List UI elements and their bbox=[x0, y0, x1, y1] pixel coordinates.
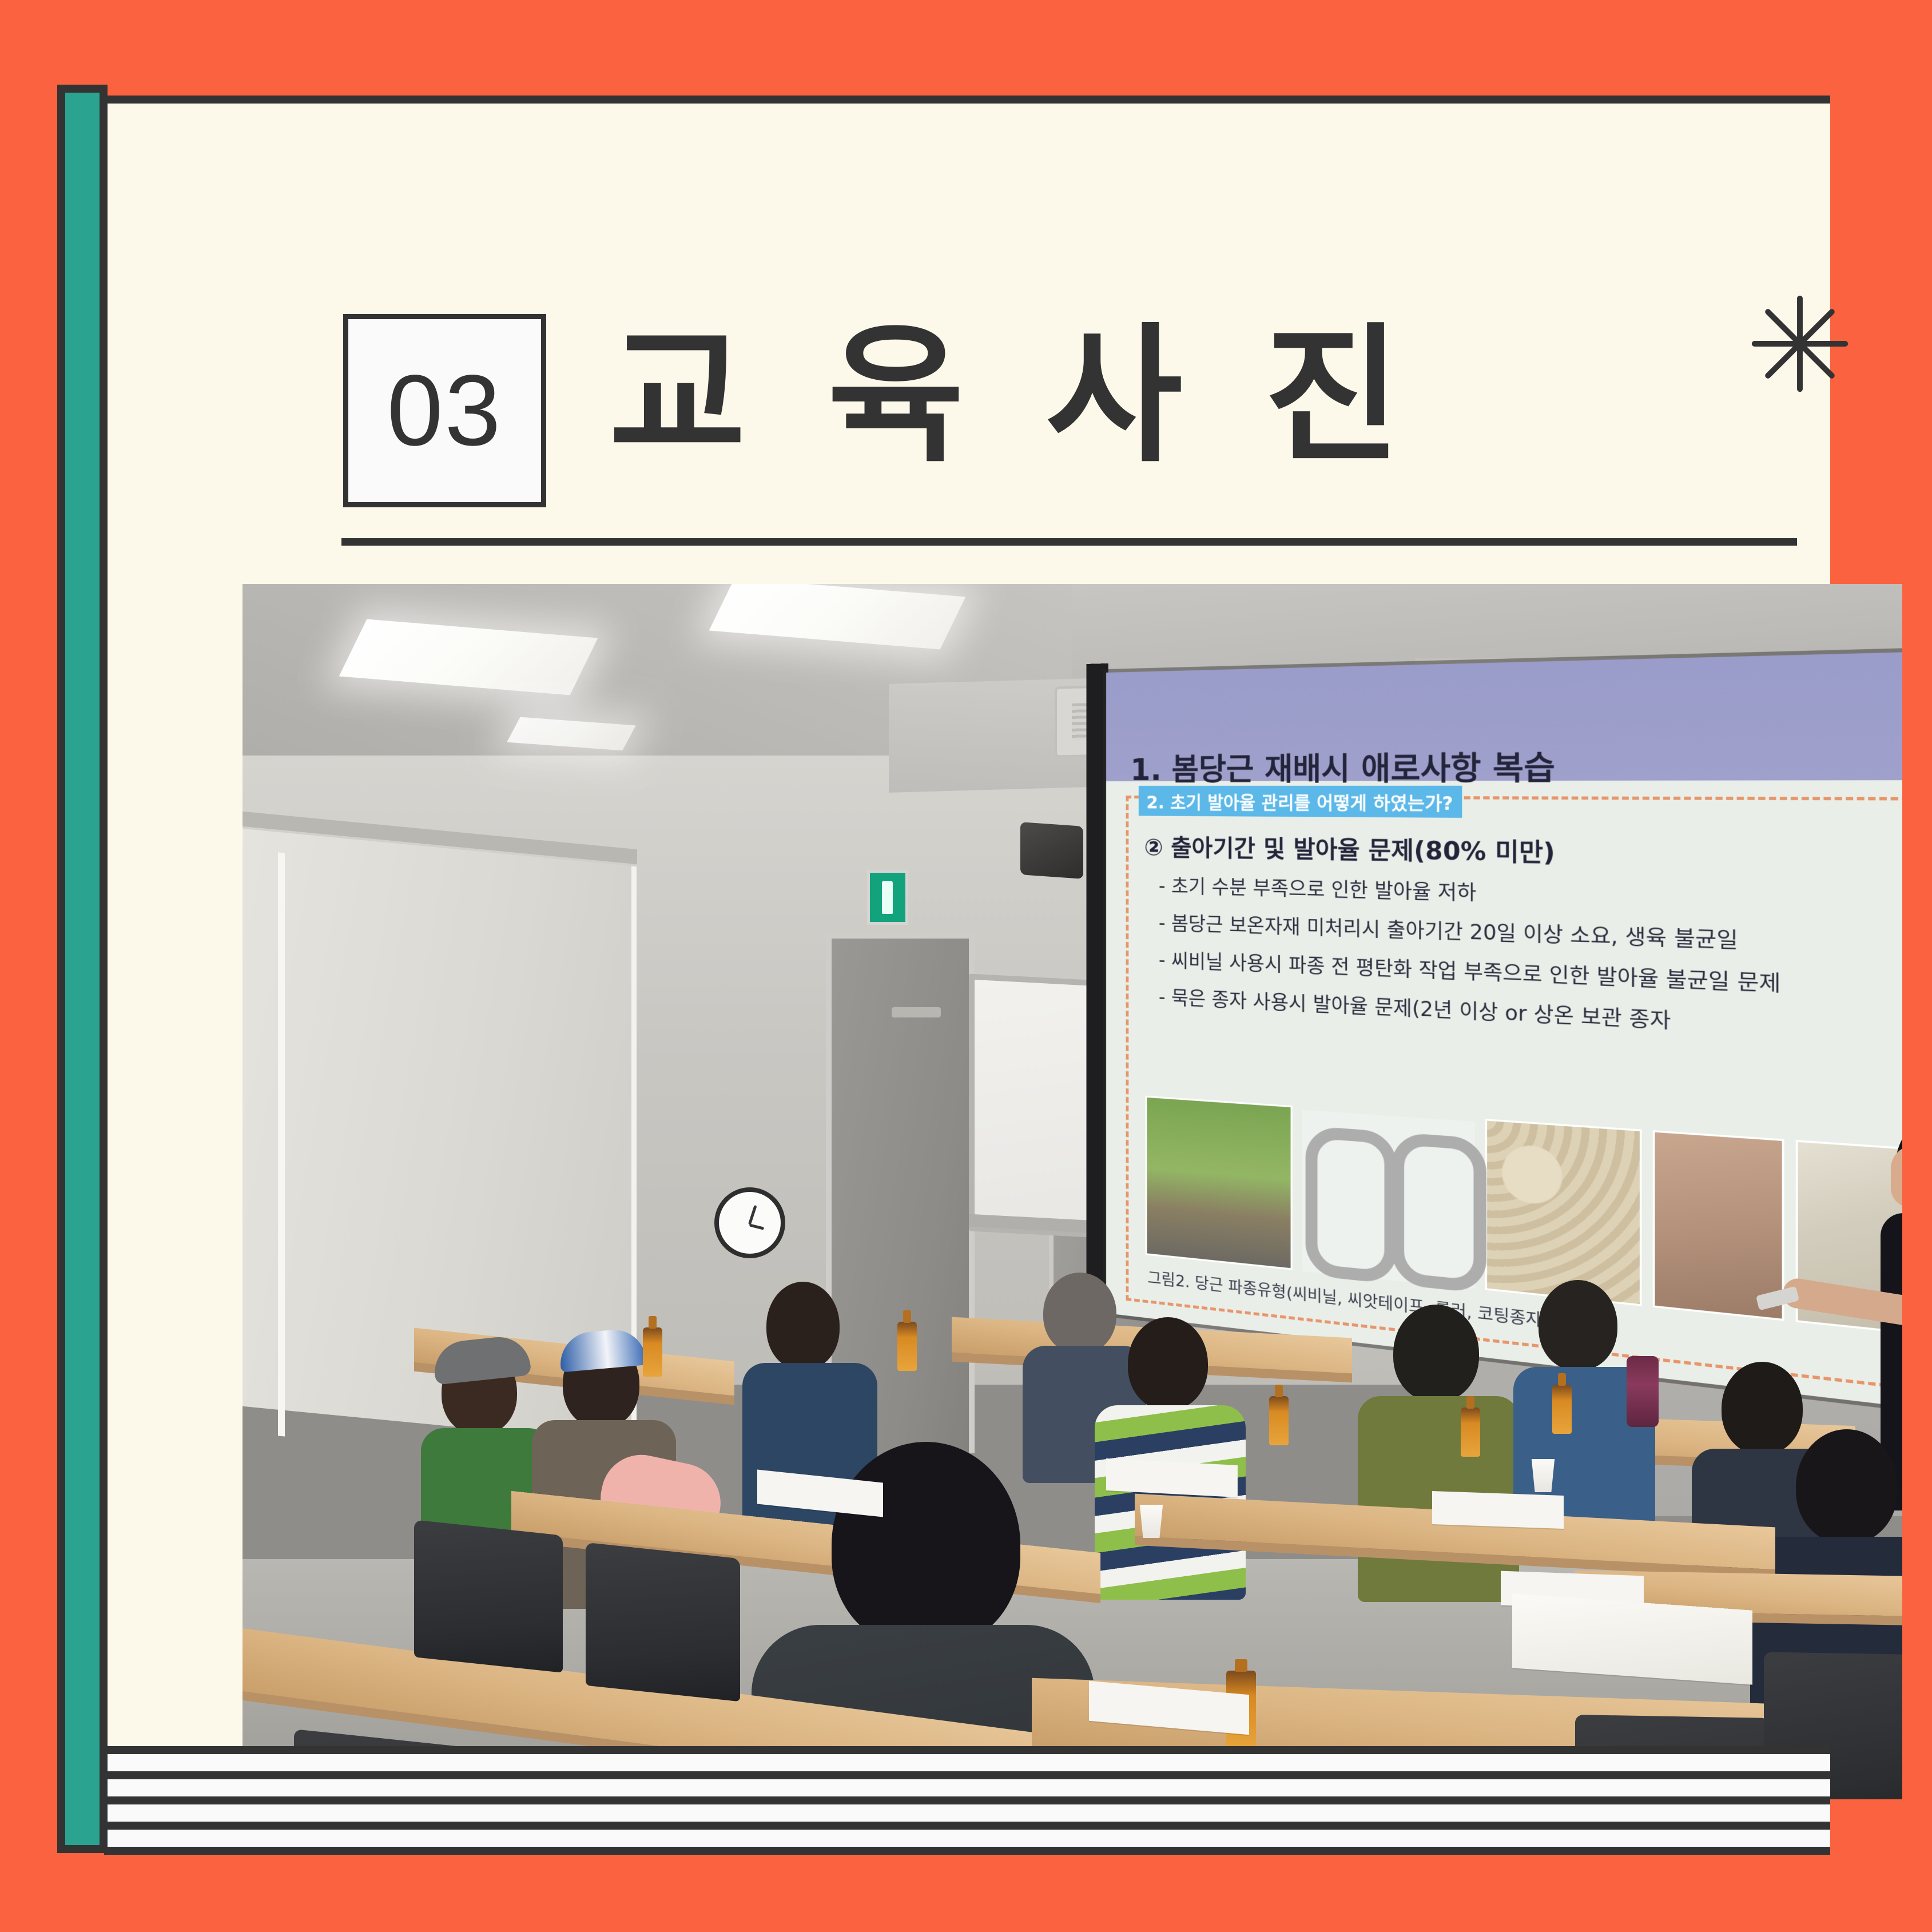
sparkle-asterisk-icon bbox=[1748, 292, 1851, 395]
chair bbox=[414, 1520, 563, 1672]
handout bbox=[1106, 1458, 1238, 1497]
attendee-head bbox=[1796, 1429, 1898, 1544]
blind-edge bbox=[278, 852, 285, 1436]
slide-heading: ② 출아기간 및 발아율 문제(80% 미만) bbox=[1144, 829, 1902, 876]
tumbler bbox=[1627, 1356, 1659, 1427]
page-title: 교 육 사 진 bbox=[609, 304, 1416, 490]
drink-bottle bbox=[1552, 1385, 1572, 1434]
chair bbox=[586, 1543, 740, 1702]
door-handle bbox=[892, 1007, 941, 1017]
footer-stripes bbox=[104, 1746, 1830, 1855]
page-header: 03 교 육 사 진 bbox=[343, 304, 1802, 532]
drink-bottle bbox=[1461, 1408, 1480, 1457]
attendee-head bbox=[1128, 1317, 1208, 1410]
slide-title: 1. 봄당근 재배시 애로사항 복습 bbox=[1130, 742, 1555, 789]
screen-casing bbox=[1087, 663, 1108, 1327]
education-photo: 1. 봄당근 재배시 애로사항 복습 2. 초기 발아율 관리를 어떻게 하였는… bbox=[243, 584, 1902, 1799]
wall-speaker bbox=[1020, 822, 1083, 879]
attendee-head bbox=[1722, 1362, 1803, 1454]
slide-figure-image bbox=[1302, 1110, 1474, 1289]
section-number: 03 bbox=[387, 360, 503, 461]
section-number-box: 03 bbox=[343, 314, 546, 507]
slide-body: 2. 초기 발아율 관리를 어떻게 하였는가? ② 출아기간 및 발아율 문제(… bbox=[1126, 796, 1902, 1399]
drink-bottle bbox=[1269, 1396, 1289, 1445]
teal-accent-bar bbox=[57, 85, 108, 1853]
attendee-head bbox=[1539, 1280, 1617, 1370]
slide-figure-image bbox=[1485, 1119, 1642, 1306]
handout bbox=[1432, 1491, 1564, 1529]
drink-bottle bbox=[643, 1327, 662, 1377]
slide-figure-image bbox=[1145, 1096, 1292, 1270]
slide-section-tag: 2. 초기 발아율 관리를 어떻게 하였는가? bbox=[1139, 786, 1462, 818]
photo-content: 1. 봄당근 재배시 애로사항 복습 2. 초기 발아율 관리를 어떻게 하였는… bbox=[243, 584, 1902, 1799]
attendee-head bbox=[1043, 1273, 1116, 1354]
poster-canvas: 03 교 육 사 진 bbox=[0, 0, 1932, 1932]
attendee-head bbox=[1393, 1305, 1479, 1402]
exit-sign-icon bbox=[867, 870, 908, 925]
attendee-head bbox=[766, 1282, 840, 1370]
content-card: 03 교 육 사 진 bbox=[104, 96, 1830, 1746]
wall-clock bbox=[714, 1187, 785, 1258]
drink-bottle bbox=[897, 1322, 917, 1371]
slide-figure-image bbox=[1653, 1130, 1784, 1321]
foreground-head bbox=[832, 1442, 1020, 1648]
title-divider bbox=[341, 538, 1797, 546]
